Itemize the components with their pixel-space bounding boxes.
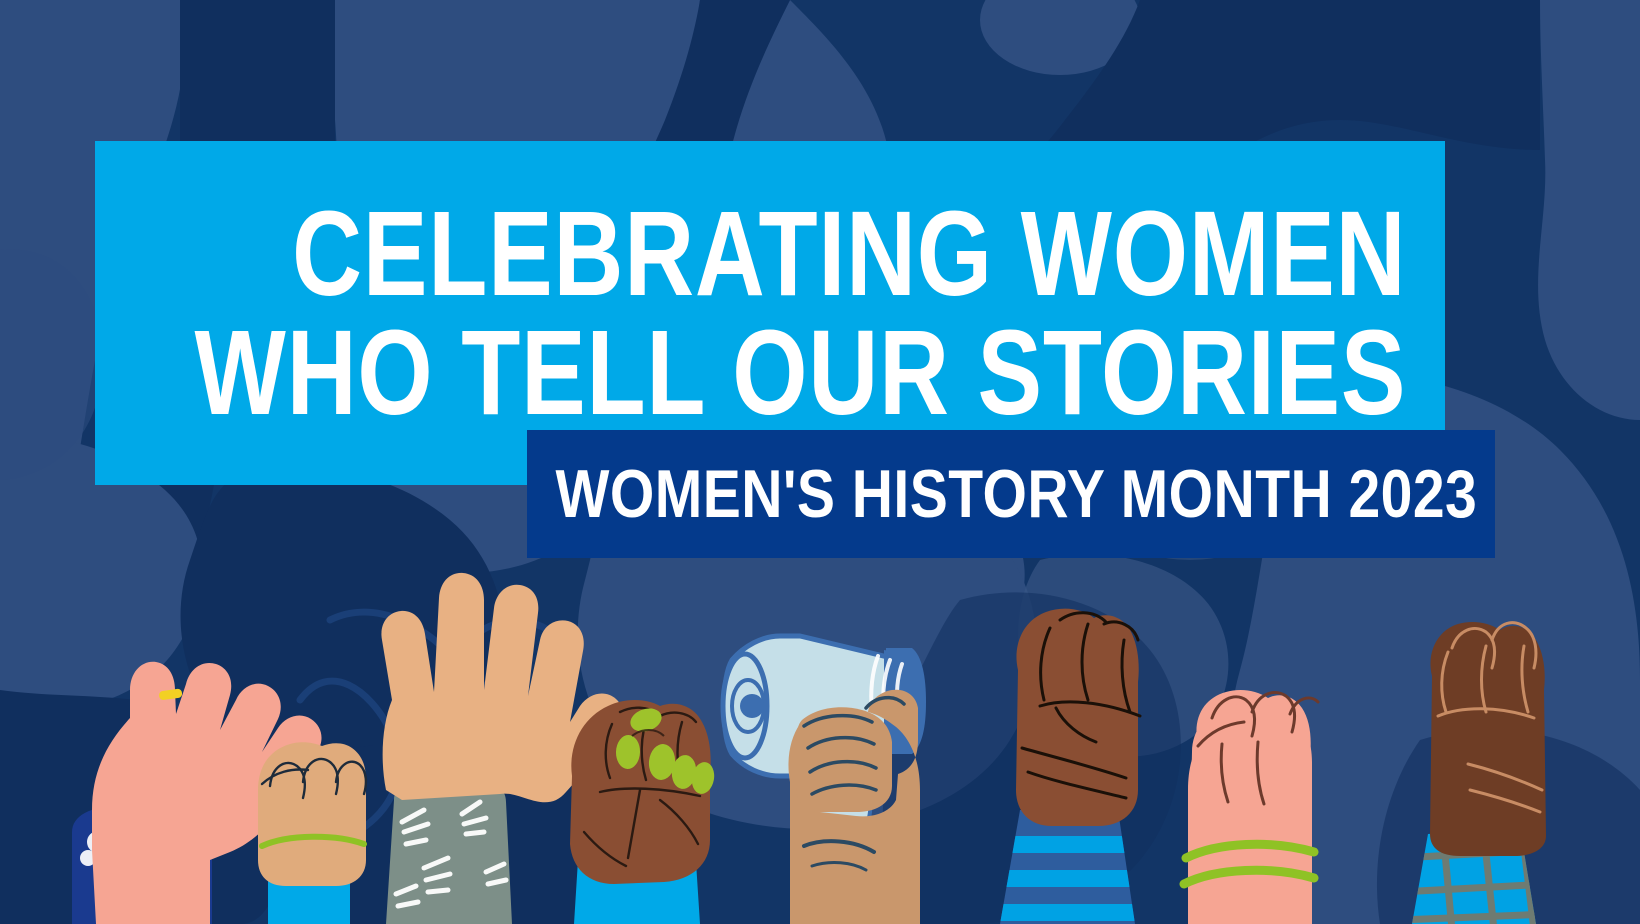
headline-line-2: WHO TELL OUR STORIES <box>195 314 1445 431</box>
fist-dark-brown-plaid-sleeve <box>1400 622 1550 924</box>
headline-line-1: CELEBRATING WOMEN <box>292 195 1445 312</box>
fist-brown-striped-sleeve <box>990 609 1150 924</box>
megaphone-held-by-hand <box>723 636 926 924</box>
fist-brown-green-nails <box>570 700 717 924</box>
subtitle-banner: WOMEN'S HISTORY MONTH 2023 <box>527 430 1495 558</box>
womens-history-month-poster: CELEBRATING WOMEN WHO TELL OUR STORIES W… <box>0 0 1640 924</box>
fist-pink-green-bracelets <box>1184 690 1318 924</box>
fist-tan-with-green-bracelet <box>258 742 366 924</box>
subtitle-text: WOMEN'S HISTORY MONTH 2023 <box>527 460 1477 528</box>
